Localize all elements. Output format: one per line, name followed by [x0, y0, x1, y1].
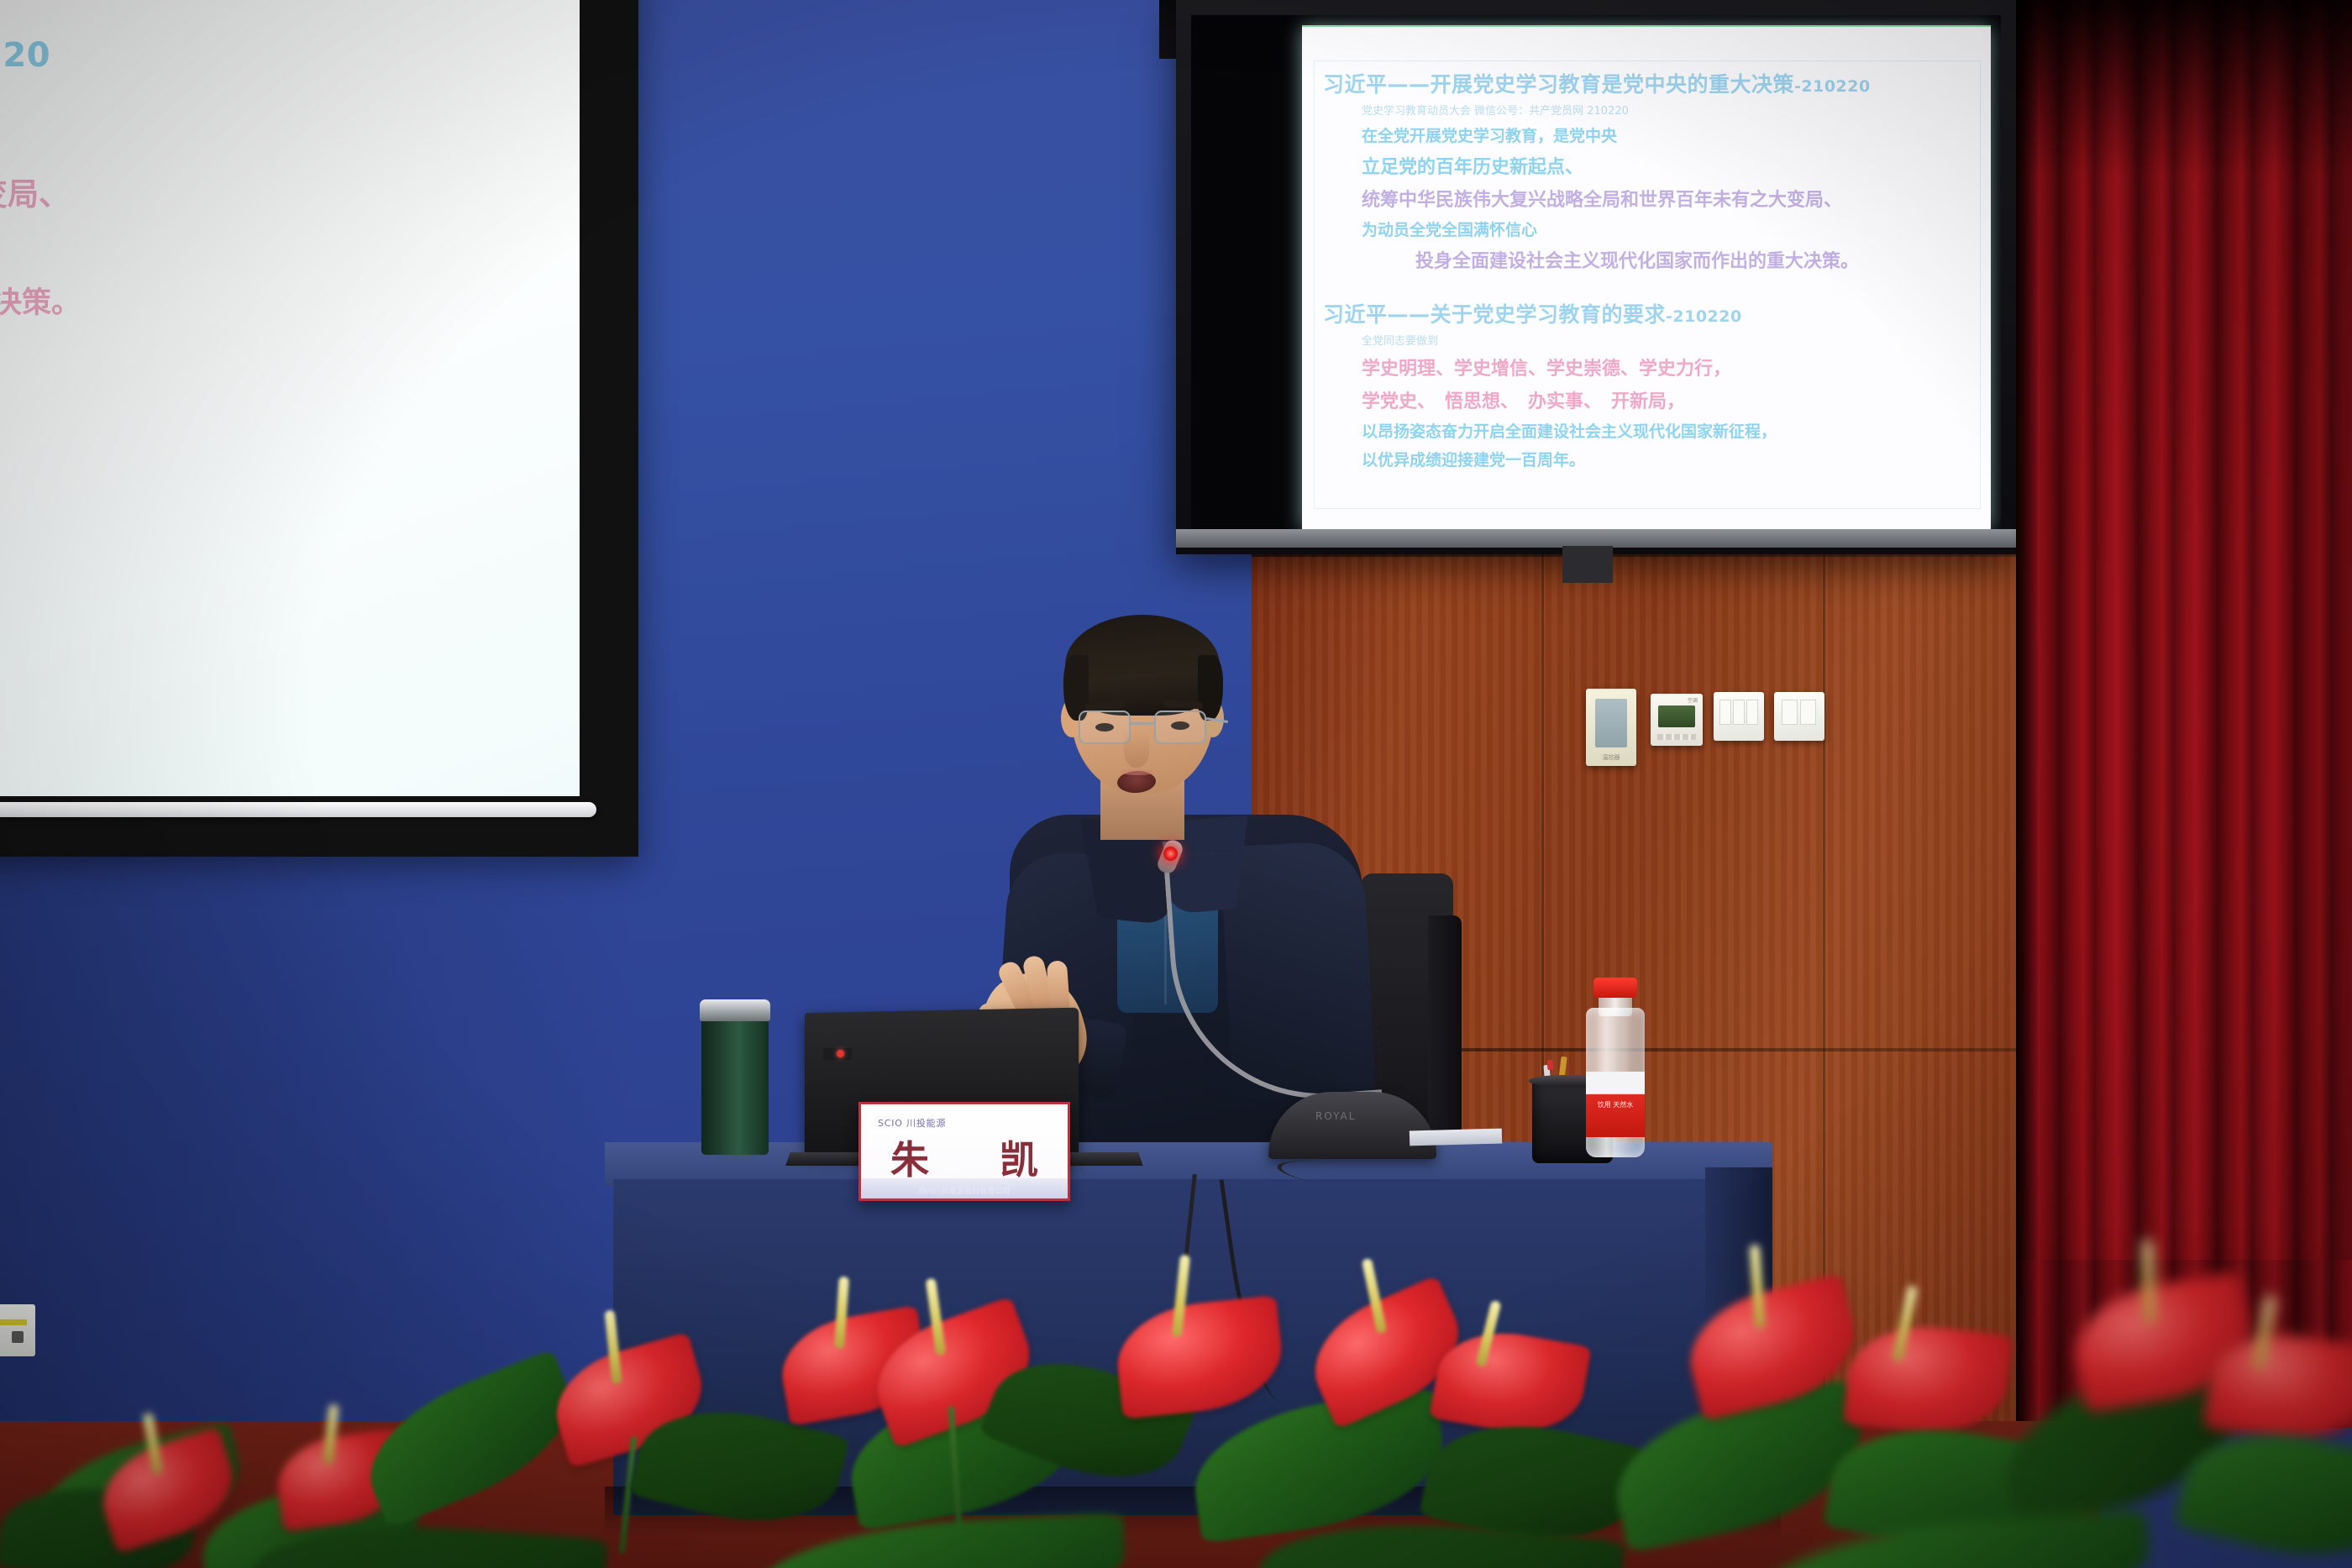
slide-block2-line-4: 以优异成绩迎接建党一百周年。 [1362, 448, 1971, 470]
name-plate: SCIO 川投能源 朱 凯 四川川投能源股份有限公司 [858, 1102, 1070, 1201]
switch-key-5[interactable] [1800, 700, 1816, 725]
thermostat-panel[interactable]: 温控器 [1586, 689, 1636, 766]
glasses-lens-right [1154, 711, 1206, 744]
office-chair-side [1428, 915, 1462, 1151]
microphone-base-label: ROYAL [1315, 1110, 1356, 1122]
ac-controller-panel[interactable]: 空调 [1651, 694, 1703, 746]
slide-block2-title: 习近平——关于党史学习教育的要求-210220 [1323, 298, 1971, 328]
proj-line-5: 学史力行， [0, 492, 580, 548]
wood-groove-2 [1823, 538, 1825, 1461]
microphone-active-led [1163, 847, 1178, 861]
name-plate-brand: SCIO 川投能源 [878, 1116, 946, 1130]
proj-line-2: 世界百年未有之大变局、 [0, 165, 580, 224]
thermostat-lcd [1595, 699, 1627, 747]
display-panel: 习近平——开展党史学习教育是党中央的重大决策-210220 党史学习教育动员大会… [1191, 15, 2001, 539]
proj-line-6: 开新局， [0, 569, 580, 626]
switch-key-2[interactable] [1733, 700, 1745, 725]
outlet-socket [12, 1331, 24, 1343]
slide-block2-line-3: 以昂扬姿态奋力开启全面建设社会主义现代化国家新征程， [1362, 419, 1971, 442]
name-plate-org: 四川川投能源股份有限公司 [861, 1185, 1068, 1196]
desk-floor-shadow [605, 1487, 1781, 1537]
upper-lip [1121, 769, 1154, 775]
slide-block1-line-5: 投身全面建设社会主义现代化国家而作出的重大决策。 [1415, 246, 1971, 273]
slide-block1-title: 习近平——开展党史学习教育是党中央的重大决策-210220 [1323, 68, 1971, 98]
name-plate-name: 朱 凯 [861, 1130, 1068, 1185]
projection-screen-weight-bar [0, 802, 596, 817]
slide-block2-line-2: 学党史、 悟思想、 办实事、 开新局， [1362, 386, 1971, 413]
display-bottom-bezel [1176, 529, 2016, 548]
proj-line-4: -210220 [0, 380, 580, 438]
red-stage-curtain-bottom [2016, 1260, 2352, 1428]
ac-button-row[interactable] [1657, 734, 1696, 740]
ac-brand-label: 空调 [1688, 696, 1698, 704]
curtain-edge-shadow [2016, 0, 2038, 1428]
red-stage-curtain [2016, 0, 2352, 1310]
pen-3[interactable] [1546, 1060, 1553, 1071]
thermos-tumbler[interactable] [701, 1004, 769, 1155]
slide-block1-subtitle: 党史学习教育动员大会 微信公号：共产党员网 210220 [1362, 102, 1971, 118]
thermostat-label: 温控器 [1586, 753, 1636, 762]
proj-line-1: 央的重大决策-210220 [0, 24, 580, 87]
curtain-top-shadow [2016, 0, 2352, 176]
nose [1124, 731, 1149, 768]
slide-block1-line-1: 在全党开展党史学习教育，是党中央 [1362, 123, 1971, 146]
leaf-13 [2173, 1412, 2352, 1568]
glasses-bridge [1131, 722, 1154, 725]
switch-key-1[interactable] [1719, 700, 1731, 725]
glasses-lens-left [1079, 711, 1131, 744]
wall-mounted-display: 习近平——开展党史学习教育是党中央的重大决策-210220 党史学习教育动员大会… [1176, 0, 2016, 554]
slide-content-frame: 习近平——开展党史学习教育是党中央的重大决策-210220 党史学习教育动员大会… [1314, 60, 1981, 509]
switch-key-4[interactable] [1782, 700, 1798, 725]
projection-surface: 央的重大决策-210220 世界百年未有之大变局、 化国家而作出的重大决策。 -… [0, 0, 580, 796]
conference-room-scene: 央的重大决策-210220 世界百年未有之大变局、 化国家而作出的重大决策。 -… [0, 0, 2352, 1568]
slide-block1-line-3: 统筹中华民族伟大复兴战略全局和世界百年未有之大变局、 [1362, 185, 1971, 212]
projection-screen: 央的重大决策-210220 世界百年未有之大变局、 化国家而作出的重大决策。 -… [0, 0, 638, 857]
thermos-lid[interactable] [700, 999, 770, 1021]
slide-block2-subtitle: 全党同志要做到 [1362, 332, 1971, 348]
ac-lcd-display [1658, 705, 1695, 727]
water-bottle-cap[interactable] [1593, 978, 1637, 998]
projected-slide-text: 央的重大决策-210220 世界百年未有之大变局、 化国家而作出的重大决策。 -… [0, 24, 580, 699]
presentation-slide: 习近平——开展党史学习教育是党中央的重大决策-210220 党史学习教育动员大会… [1302, 27, 1991, 529]
desk-documents[interactable] [1410, 1129, 1502, 1146]
slide-block1-line-2: 立足党的百年历史新起点、 [1362, 152, 1971, 179]
proj-line-7: 现代化国家新征程， [0, 646, 580, 699]
wood-panel-seam-top [1252, 554, 2075, 557]
desk-skirt-right-face [1705, 1167, 1772, 1503]
laptop-led-dot [837, 1050, 844, 1057]
wall-outlet-plate[interactable] [0, 1304, 35, 1356]
switch-key-3[interactable] [1746, 700, 1758, 725]
slide-block2-line-1: 学史明理、学史增信、学史崇德、学史力行， [1362, 354, 1971, 380]
outlet-slot [0, 1319, 27, 1325]
light-switch-double[interactable] [1774, 692, 1824, 741]
light-switch-triple[interactable] [1714, 692, 1764, 741]
slide-block1-line-4: 为动员全党全国满怀信心 [1362, 218, 1971, 240]
proj-line-3: 化国家而作出的重大决策。 [0, 275, 580, 332]
display-mount [1562, 546, 1613, 583]
water-bottle-label-text: 饮用 天然水 [1588, 1100, 1643, 1110]
